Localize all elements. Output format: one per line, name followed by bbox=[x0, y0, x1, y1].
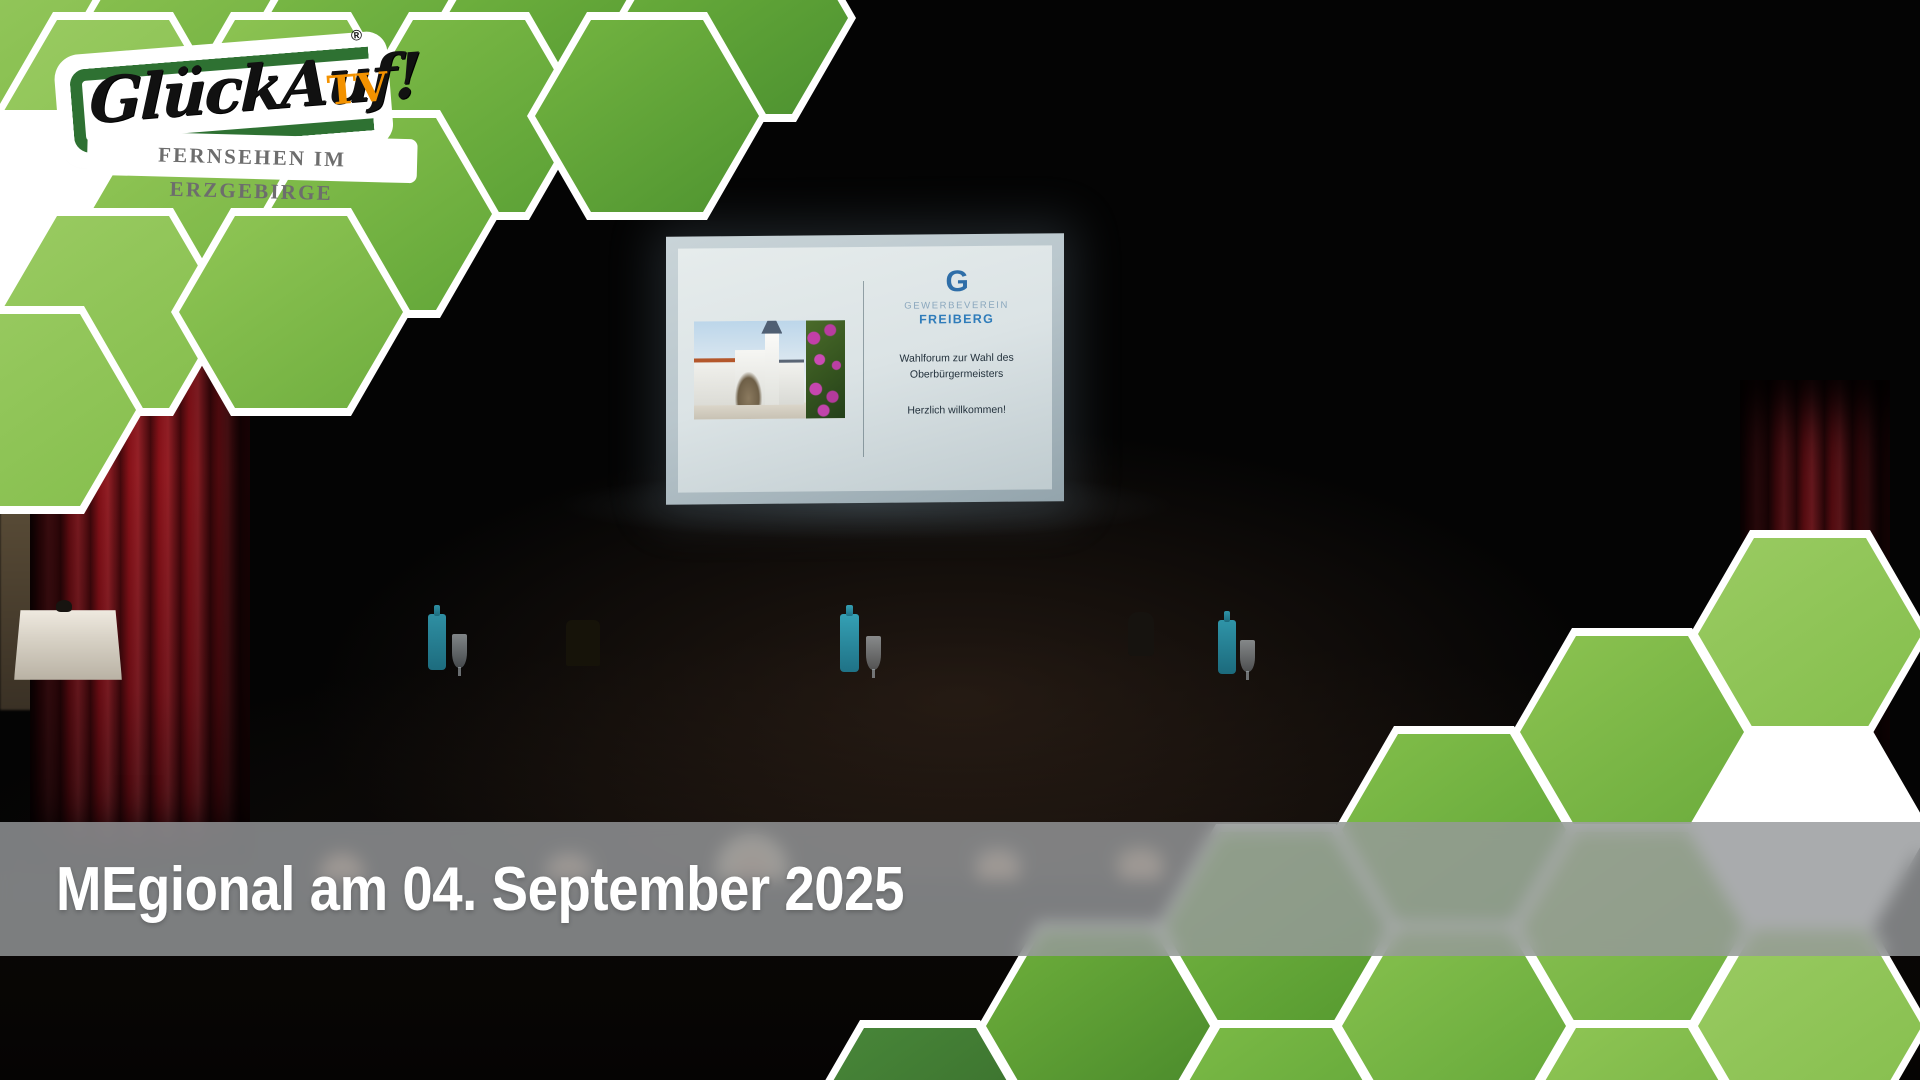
slide-headline-line2: Oberbürgermeisters bbox=[861, 365, 1052, 383]
channel-logo: GlückAuf! TV ® FERNSEHEN IM ERZGEBIRGE bbox=[22, 7, 426, 202]
flowers-decoration bbox=[806, 320, 845, 418]
slide-text-column: G GEWERBEVEREIN FREIBERG Wahlforum zur W… bbox=[861, 245, 1052, 491]
slide-image-column bbox=[678, 247, 861, 493]
broadcast-frame: G GEWERBEVEREIN FREIBERG Wahlforum zur W… bbox=[0, 0, 1920, 1080]
side-table bbox=[14, 610, 122, 680]
stage-curtain-left bbox=[30, 300, 250, 860]
stage-curtain-right bbox=[1740, 380, 1890, 820]
slide-headline-line1: Wahlforum zur Wahl des bbox=[861, 349, 1052, 367]
program-title: MEgional am 04. September 2025 bbox=[56, 854, 904, 925]
registered-trademark-icon: ® bbox=[350, 27, 362, 45]
freiberg-market-photo bbox=[694, 320, 844, 419]
side-table-object bbox=[56, 600, 72, 612]
slide: G GEWERBEVEREIN FREIBERG Wahlforum zur W… bbox=[678, 245, 1052, 492]
water-bottle bbox=[840, 614, 859, 672]
water-bottle bbox=[428, 614, 446, 670]
gewerbeverein-logo-initial: G bbox=[861, 267, 1052, 297]
drinking-glass bbox=[866, 636, 881, 670]
lower-third-bar: MEgional am 04. September 2025 bbox=[0, 822, 1920, 956]
drinking-glass bbox=[452, 634, 467, 668]
gewerbeverein-logo-city: FREIBERG bbox=[861, 311, 1052, 327]
slide-welcome: Herzlich willkommen! bbox=[861, 403, 1052, 417]
logo-tv-suffix: TV bbox=[326, 67, 390, 112]
microphone bbox=[1128, 612, 1154, 656]
logo-tagline-banner: FERNSEHEN IM ERZGEBIRGE bbox=[92, 136, 413, 178]
slide-headline: Wahlforum zur Wahl des Oberbürgermeister… bbox=[861, 349, 1052, 383]
lantern-prop bbox=[566, 620, 600, 666]
gewerbeverein-logo-name: GEWERBEVEREIN bbox=[861, 299, 1052, 312]
drinking-glass bbox=[1240, 640, 1255, 672]
projection-screen: G GEWERBEVEREIN FREIBERG Wahlforum zur W… bbox=[666, 233, 1064, 504]
logo-tagline-text: FERNSEHEN IM ERZGEBIRGE bbox=[91, 136, 413, 212]
water-bottle bbox=[1218, 620, 1236, 674]
